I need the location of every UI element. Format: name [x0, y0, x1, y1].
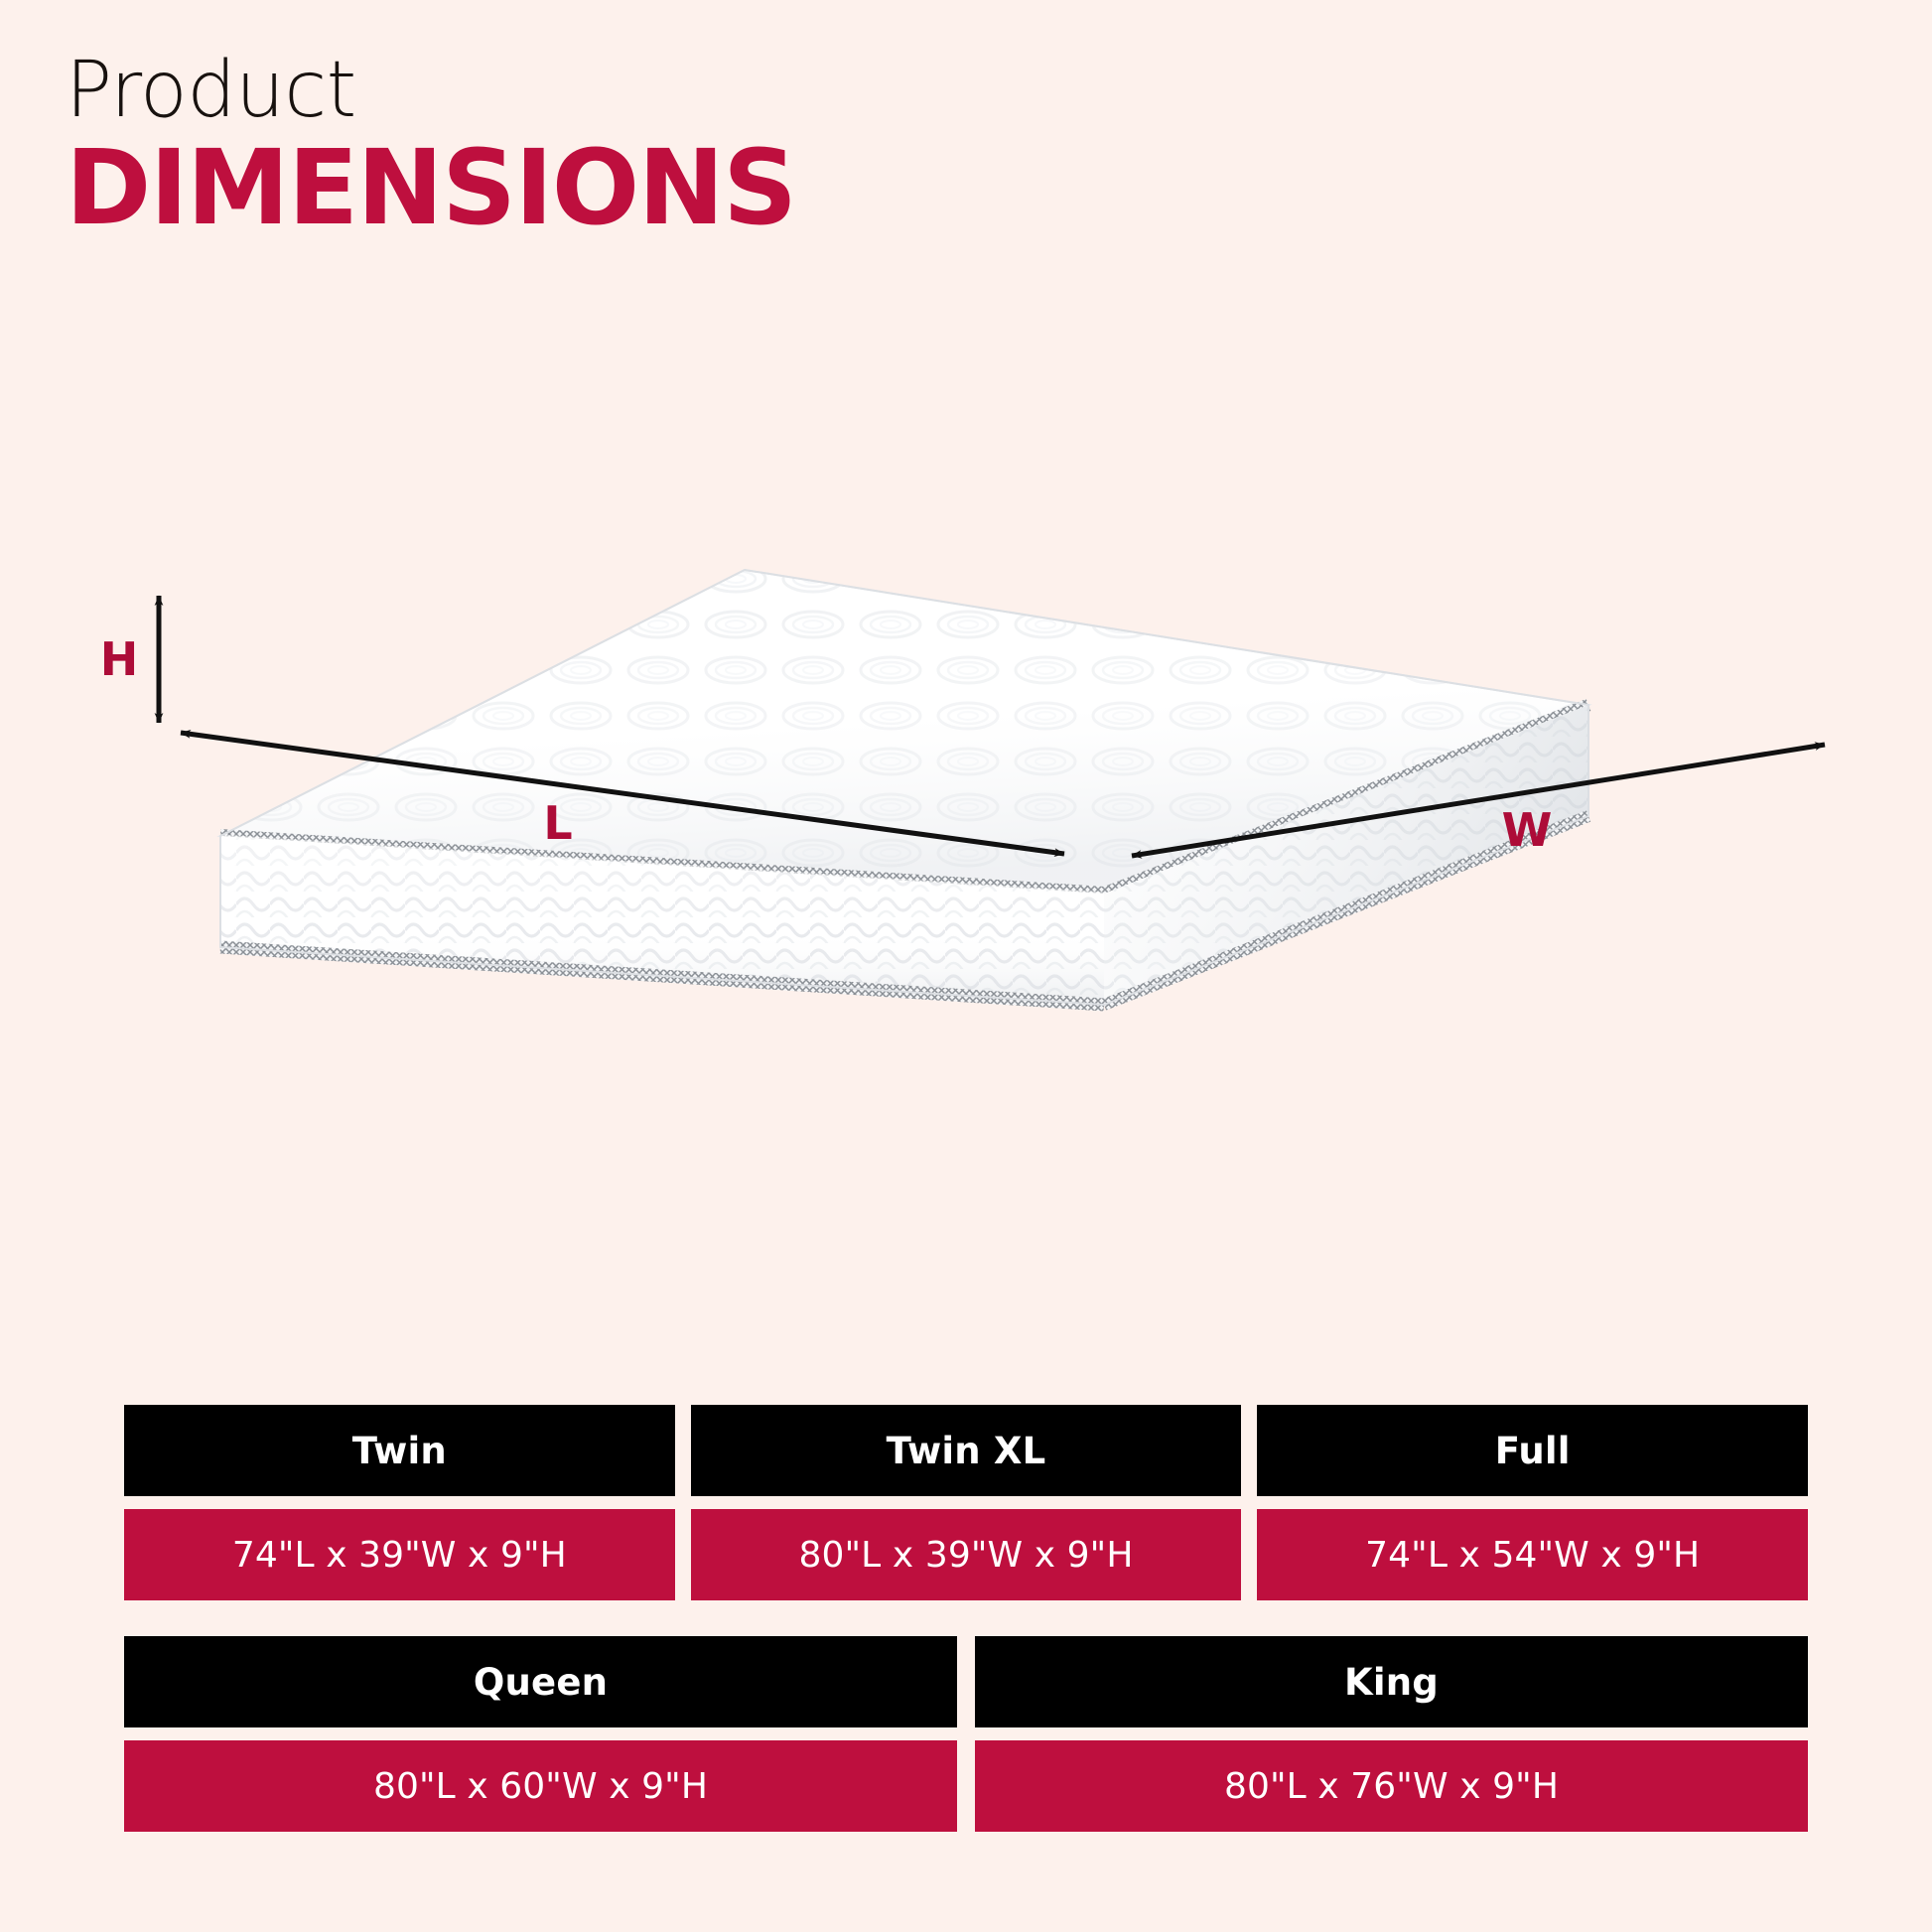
size-cell-twin-xl[interactable]: Twin XL 80"L x 39"W x 9"H	[691, 1405, 1242, 1600]
size-dimensions-king: 80"L x 76"W x 9"H	[975, 1740, 1808, 1832]
size-name-king: King	[975, 1636, 1808, 1727]
size-cell-king[interactable]: King 80"L x 76"W x 9"H	[975, 1636, 1808, 1832]
page-title: Product DIMENSIONS	[66, 52, 1257, 240]
mattress-diagram: H L W	[0, 556, 1932, 1112]
size-cell-queen[interactable]: Queen 80"L x 60"W x 9"H	[124, 1636, 957, 1832]
mattress-illustration	[220, 570, 1588, 1005]
size-table: Twin 74"L x 39"W x 9"H Twin XL 80"L x 39…	[124, 1405, 1808, 1832]
size-dimensions-queen: 80"L x 60"W x 9"H	[124, 1740, 957, 1832]
height-label: H	[100, 632, 139, 686]
size-table-row-1: Twin 74"L x 39"W x 9"H Twin XL 80"L x 39…	[124, 1405, 1808, 1600]
size-dimensions-twin-xl: 80"L x 39"W x 9"H	[691, 1509, 1242, 1600]
title-line-dimensions: DIMENSIONS	[66, 135, 1257, 240]
size-name-queen: Queen	[124, 1636, 957, 1727]
length-label: L	[543, 796, 572, 850]
size-table-row-2: Queen 80"L x 60"W x 9"H King 80"L x 76"W…	[124, 1636, 1808, 1832]
size-name-twin: Twin	[124, 1405, 675, 1496]
size-dimensions-twin: 74"L x 39"W x 9"H	[124, 1509, 675, 1600]
size-name-full: Full	[1257, 1405, 1808, 1496]
title-line-product: Product	[66, 52, 1257, 129]
size-cell-twin[interactable]: Twin 74"L x 39"W x 9"H	[124, 1405, 675, 1600]
size-name-twin-xl: Twin XL	[691, 1405, 1242, 1496]
width-label: W	[1502, 803, 1553, 857]
size-cell-full[interactable]: Full 74"L x 54"W x 9"H	[1257, 1405, 1808, 1600]
size-dimensions-full: 74"L x 54"W x 9"H	[1257, 1509, 1808, 1600]
